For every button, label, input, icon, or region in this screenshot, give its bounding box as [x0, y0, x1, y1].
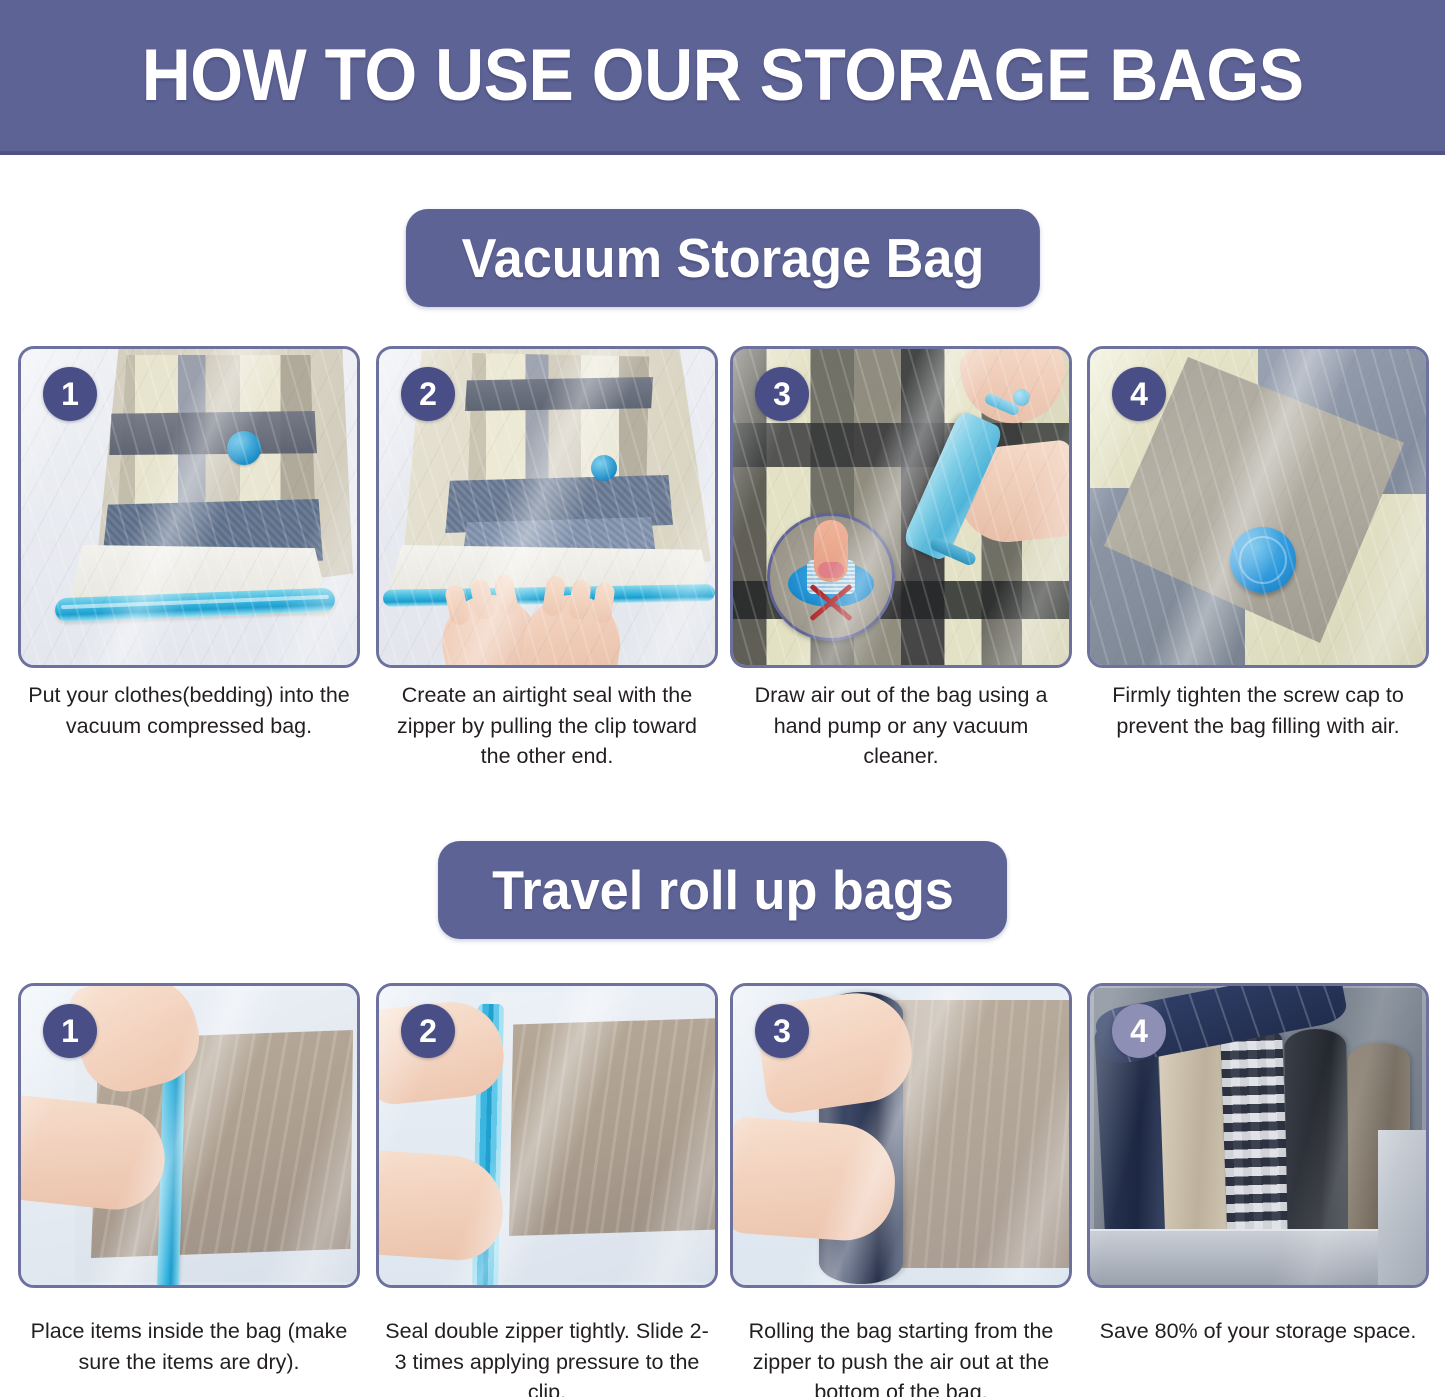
- section-title-travel-roll-up-bags: Travel roll up bags: [438, 841, 1008, 939]
- section-title-label: Travel roll up bags: [492, 863, 954, 918]
- step-number-badge: 4: [1112, 367, 1166, 421]
- step-card-vacuum-3: 3: [730, 346, 1072, 668]
- photo-card: 2: [376, 983, 718, 1288]
- section-title-label: Vacuum Storage Bag: [461, 231, 984, 286]
- do-not-press-valve-inset: [767, 513, 895, 641]
- step-caption-vacuum-3: Draw air out of the bag using a hand pum…: [730, 680, 1072, 772]
- photo-card: 1: [18, 346, 360, 668]
- header-banner: HOW TO USE OUR STORAGE BAGS: [0, 0, 1445, 155]
- step-caption-travel-1: Place items inside the bag (make sure th…: [18, 1316, 360, 1397]
- travel-steps-caption-row: Place items inside the bag (make sure th…: [0, 1316, 1445, 1397]
- vacuum-steps-image-row: 1 2: [0, 346, 1445, 668]
- step-number-badge: 1: [43, 367, 97, 421]
- step-number-badge: 1: [43, 1004, 97, 1058]
- step-caption-travel-3: Rolling the bag starting from the zipper…: [730, 1316, 1072, 1397]
- step-number-badge: 2: [401, 367, 455, 421]
- step-card-travel-1: 1: [18, 983, 360, 1288]
- step-card-travel-2: 2: [376, 983, 718, 1288]
- step-card-travel-3: 3: [730, 983, 1072, 1288]
- step-card-vacuum-4: 4: [1087, 346, 1429, 668]
- valve-icon: [591, 455, 617, 481]
- page-title: HOW TO USE OUR STORAGE BAGS: [142, 39, 1304, 112]
- screw-cap-icon: [1230, 527, 1296, 593]
- infographic-page: HOW TO USE OUR STORAGE BAGS Vacuum Stora…: [0, 0, 1445, 1397]
- photo-card: 1: [18, 983, 360, 1288]
- step-card-vacuum-1: 1: [18, 346, 360, 668]
- step-caption-travel-4: Save 80% of your storage space.: [1087, 1316, 1429, 1397]
- section-title-vacuum-storage-bag: Vacuum Storage Bag: [405, 209, 1039, 307]
- photo-card: 4: [1087, 983, 1429, 1288]
- travel-steps-image-row: 1 2: [0, 983, 1445, 1288]
- photo-card: 3: [730, 983, 1072, 1288]
- photo-card: 3: [730, 346, 1072, 668]
- photo-card: 2: [376, 346, 718, 668]
- step-number-badge: 3: [755, 1004, 809, 1058]
- step-caption-vacuum-1: Put your clothes(bedding) into the vacuu…: [18, 680, 360, 772]
- step-caption-travel-2: Seal double zipper tightly. Slide 2-3 ti…: [376, 1316, 718, 1397]
- step-card-vacuum-2: 2: [376, 346, 718, 668]
- step-caption-vacuum-4: Firmly tighten the screw cap to prevent …: [1087, 680, 1429, 772]
- step-card-travel-4: 4: [1087, 983, 1429, 1288]
- step-caption-vacuum-2: Create an airtight seal with the zipper …: [376, 680, 718, 772]
- step-number-badge: 2: [401, 1004, 455, 1058]
- step-number-badge: 3: [755, 367, 809, 421]
- photo-card: 4: [1087, 346, 1429, 668]
- step-number-badge: 4: [1112, 1004, 1166, 1058]
- valve-icon: [227, 431, 261, 465]
- vacuum-steps-caption-row: Put your clothes(bedding) into the vacuu…: [0, 680, 1445, 772]
